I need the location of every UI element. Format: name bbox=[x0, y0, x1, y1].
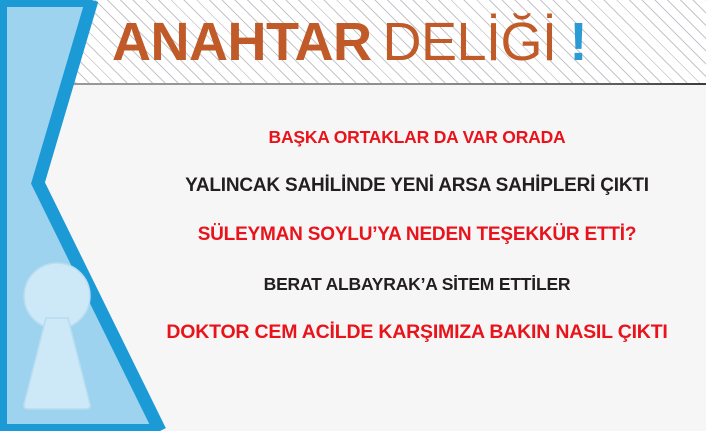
headline-item[interactable]: BAŞKA ORTAKLAR DA VAR ORADA bbox=[128, 128, 706, 147]
headline-list: BAŞKA ORTAKLAR DA VAR ORADA YALINCAK SAH… bbox=[128, 110, 706, 410]
chevron-top-accent bbox=[0, 0, 92, 7]
chevron-left-accent bbox=[0, 0, 7, 431]
anahtar-deligi-banner: ANAHTAR DELİĞİ ! BAŞKA ORTAKLAR DA VAR O… bbox=[0, 0, 706, 431]
masthead-title-strong: ANAHTAR bbox=[112, 15, 371, 69]
masthead-title-light: DELİĞİ bbox=[382, 15, 556, 69]
headline-item[interactable]: SÜLEYMAN SOYLU’YA NEDEN TEŞEKKÜR ETTİ? bbox=[128, 225, 706, 246]
headline-item[interactable]: BERAT ALBAYRAK’A SİTEM ETTİLER bbox=[128, 275, 706, 294]
headline-item[interactable]: YALINCAK SAHİLİNDE YENİ ARSA SAHİPLERİ Ç… bbox=[128, 176, 706, 197]
masthead-exclamation-mark: ! bbox=[570, 15, 588, 69]
headline-item[interactable]: DOKTOR CEM ACİLDE KARŞIMIZA BAKIN NASIL … bbox=[128, 322, 706, 343]
chevron-bottom-accent bbox=[0, 424, 160, 431]
masthead-title: ANAHTAR DELİĞİ ! bbox=[112, 7, 588, 77]
